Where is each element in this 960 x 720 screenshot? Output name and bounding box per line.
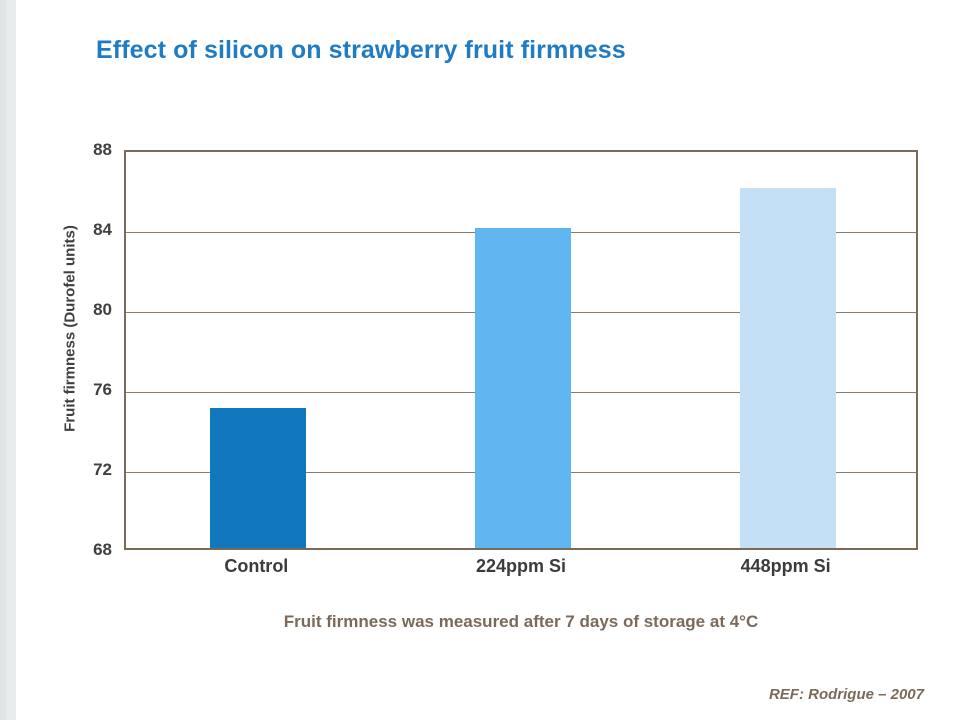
bar-control[interactable] [210, 408, 306, 548]
y-tick-label: 76 [52, 380, 112, 400]
reference-citation: REF: Rodrigue – 2007 [769, 686, 924, 703]
chart-footnote: Fruit firmness was measured after 7 days… [124, 612, 918, 632]
y-tick-label: 88 [52, 140, 112, 160]
x-tick-label: 448ppm Si [653, 556, 918, 577]
left-accent-bar [0, 0, 16, 720]
y-tick-label: 80 [52, 300, 112, 320]
y-tick-label: 68 [52, 540, 112, 560]
chart-plot-wrapper [124, 150, 918, 550]
page-title: Effect of silicon on strawberry fruit fi… [96, 36, 896, 65]
y-tick-label: 84 [52, 220, 112, 240]
x-axis-tick-labels: Control224ppm Si448ppm Si [124, 556, 918, 584]
x-tick-label: Control [124, 556, 389, 577]
bar-448ppm-si[interactable] [740, 188, 836, 548]
y-tick-label: 72 [52, 460, 112, 480]
y-axis-tick-labels: 687276808488 [46, 150, 112, 550]
plot-area [124, 150, 918, 550]
slide-canvas: Effect of silicon on strawberry fruit fi… [0, 0, 960, 720]
bar-224ppm-si[interactable] [475, 228, 571, 548]
left-accent-bar-inner [0, 0, 6, 720]
x-tick-label: 224ppm Si [389, 556, 654, 577]
